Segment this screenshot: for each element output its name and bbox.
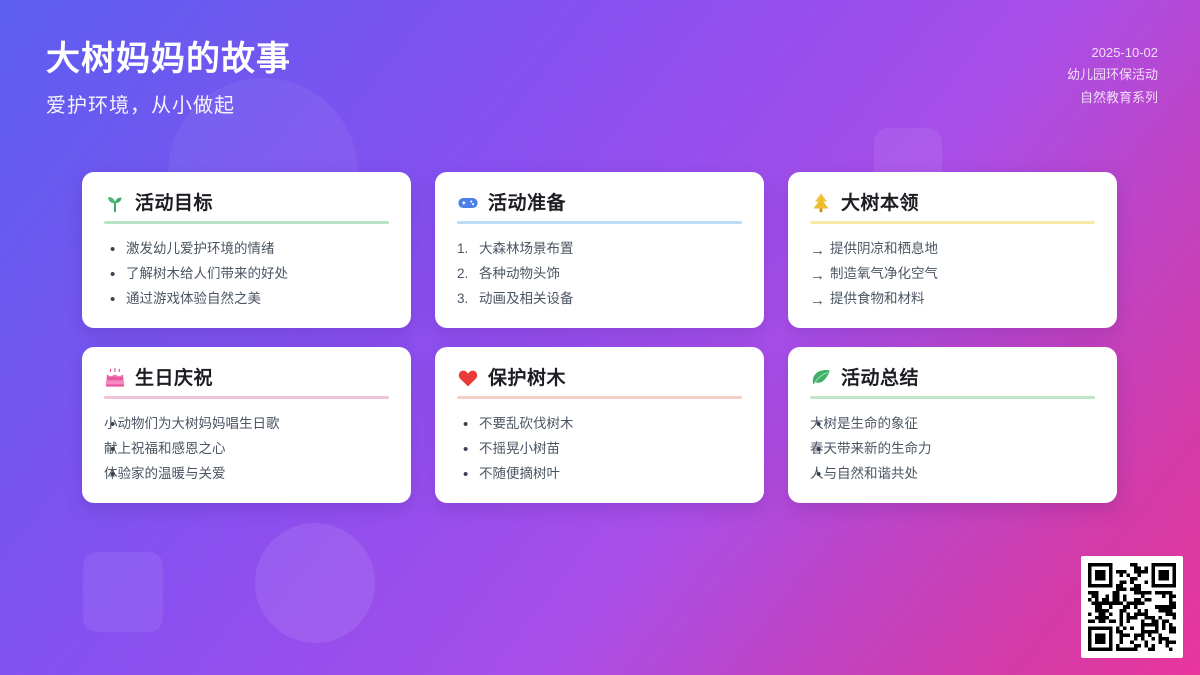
card-header: 生日庆祝	[104, 367, 389, 396]
seedling-icon	[104, 192, 126, 214]
card-body: 大树是生命的象征春天带来新的生命力人与自然和谐共处	[810, 412, 1095, 487]
card-list: 小动物们为大树妈妈唱生日歌献上祝福和感恩之心体验家的温暖与关爱	[104, 412, 389, 487]
card-accent-rule	[104, 396, 389, 399]
card-list-item: 不随便摘树叶	[457, 462, 742, 487]
heart-icon	[457, 367, 479, 389]
card-title: 生日庆祝	[135, 369, 213, 388]
card-list-item: 通过游戏体验自然之美	[104, 287, 389, 312]
card-list-item: 大树是生命的象征	[810, 412, 1095, 437]
card-list-item: 不要乱砍伐树木	[457, 412, 742, 437]
card-list: 激发幼儿爱护环境的情绪了解树木给人们带来的好处通过游戏体验自然之美	[104, 237, 389, 312]
header-meta: 2025-10-02 幼儿园环保活动 自然教育系列	[1067, 42, 1158, 109]
card-list-item: 激发幼儿爱护环境的情绪	[104, 237, 389, 262]
qr-code-image	[1088, 563, 1176, 651]
card-accent-rule	[810, 396, 1095, 399]
card-list-item: 提供食物和材料	[810, 287, 1095, 312]
leaf-icon	[810, 367, 832, 389]
cards-grid: 活动目标激发幼儿爱护环境的情绪了解树木给人们带来的好处通过游戏体验自然之美活动准…	[82, 172, 1118, 503]
card-list-item: 体验家的温暖与关爱	[104, 462, 389, 487]
birthday-cake-icon	[104, 367, 126, 389]
card-body: 激发幼儿爱护环境的情绪了解树木给人们带来的好处通过游戏体验自然之美	[104, 237, 389, 312]
card-title: 大树本领	[841, 194, 919, 213]
card-body: 不要乱砍伐树木不摇晃小树苗不随便摘树叶	[457, 412, 742, 487]
card-accent-rule	[104, 221, 389, 224]
card-list-item: 提供阴凉和栖息地	[810, 237, 1095, 262]
card-list-item: 不摇晃小树苗	[457, 437, 742, 462]
card-title: 活动准备	[488, 194, 566, 213]
card-list-item: 了解树木给人们带来的好处	[104, 262, 389, 287]
card-accent-rule	[457, 396, 742, 399]
card-header: 活动目标	[104, 192, 389, 221]
info-card: 活动目标激发幼儿爱护环境的情绪了解树木给人们带来的好处通过游戏体验自然之美	[82, 172, 411, 328]
page-title: 大树妈妈的故事	[46, 38, 291, 81]
info-card: 活动准备大森林场景布置各种动物头饰动画及相关设备	[435, 172, 764, 328]
card-header: 活动准备	[457, 192, 742, 221]
card-list-item: 动画及相关设备	[457, 287, 742, 312]
card-list: 大森林场景布置各种动物头饰动画及相关设备	[457, 237, 742, 312]
header-date: 2025-10-02	[1067, 42, 1158, 64]
page-subtitle: 爱护环境，从小做起	[46, 89, 291, 118]
seedling-icon	[104, 192, 126, 214]
tree-icon	[810, 192, 832, 214]
qr-code[interactable]	[1081, 556, 1183, 658]
info-card: 生日庆祝小动物们为大树妈妈唱生日歌献上祝福和感恩之心体验家的温暖与关爱	[82, 347, 411, 503]
leaf-icon	[810, 367, 832, 389]
card-accent-rule	[457, 221, 742, 224]
card-list: 不要乱砍伐树木不摇晃小树苗不随便摘树叶	[457, 412, 742, 487]
heart-icon	[457, 367, 479, 389]
card-list-item: 制造氧气净化空气	[810, 262, 1095, 287]
card-list-item: 大森林场景布置	[457, 237, 742, 262]
card-list-item: 各种动物头饰	[457, 262, 742, 287]
card-list-item: 献上祝福和感恩之心	[104, 437, 389, 462]
gamepad-icon	[457, 192, 479, 214]
card-header: 活动总结	[810, 367, 1095, 396]
card-accent-rule	[810, 221, 1095, 224]
card-header: 大树本领	[810, 192, 1095, 221]
card-header: 保护树木	[457, 367, 742, 396]
decorative-circle-bottom	[255, 523, 375, 643]
card-title: 保护树木	[488, 369, 566, 388]
card-body: 大森林场景布置各种动物头饰动画及相关设备	[457, 237, 742, 312]
info-card: 保护树木不要乱砍伐树木不摇晃小树苗不随便摘树叶	[435, 347, 764, 503]
card-title: 活动总结	[841, 369, 919, 388]
gamepad-icon	[457, 192, 479, 214]
card-list: 大树是生命的象征春天带来新的生命力人与自然和谐共处	[810, 412, 1095, 487]
card-body: 小动物们为大树妈妈唱生日歌献上祝福和感恩之心体验家的温暖与关爱	[104, 412, 389, 487]
decorative-rounded-square-bottom	[83, 552, 163, 632]
birthday-cake-icon	[104, 367, 126, 389]
card-list: 提供阴凉和栖息地制造氧气净化空气提供食物和材料	[810, 237, 1095, 312]
page-header: 大树妈妈的故事 爱护环境，从小做起 2025-10-02 幼儿园环保活动 自然教…	[0, 0, 1200, 140]
card-list-item: 人与自然和谐共处	[810, 462, 1095, 487]
tree-icon	[810, 192, 832, 214]
header-title-group: 大树妈妈的故事 爱护环境，从小做起	[46, 38, 291, 118]
card-list-item: 小动物们为大树妈妈唱生日歌	[104, 412, 389, 437]
card-title: 活动目标	[135, 194, 213, 213]
card-list-item: 春天带来新的生命力	[810, 437, 1095, 462]
card-body: 提供阴凉和栖息地制造氧气净化空气提供食物和材料	[810, 237, 1095, 312]
header-meta-line-1: 幼儿园环保活动	[1067, 64, 1158, 86]
info-card: 大树本领提供阴凉和栖息地制造氧气净化空气提供食物和材料	[788, 172, 1117, 328]
header-meta-line-2: 自然教育系列	[1067, 87, 1158, 109]
info-card: 活动总结大树是生命的象征春天带来新的生命力人与自然和谐共处	[788, 347, 1117, 503]
